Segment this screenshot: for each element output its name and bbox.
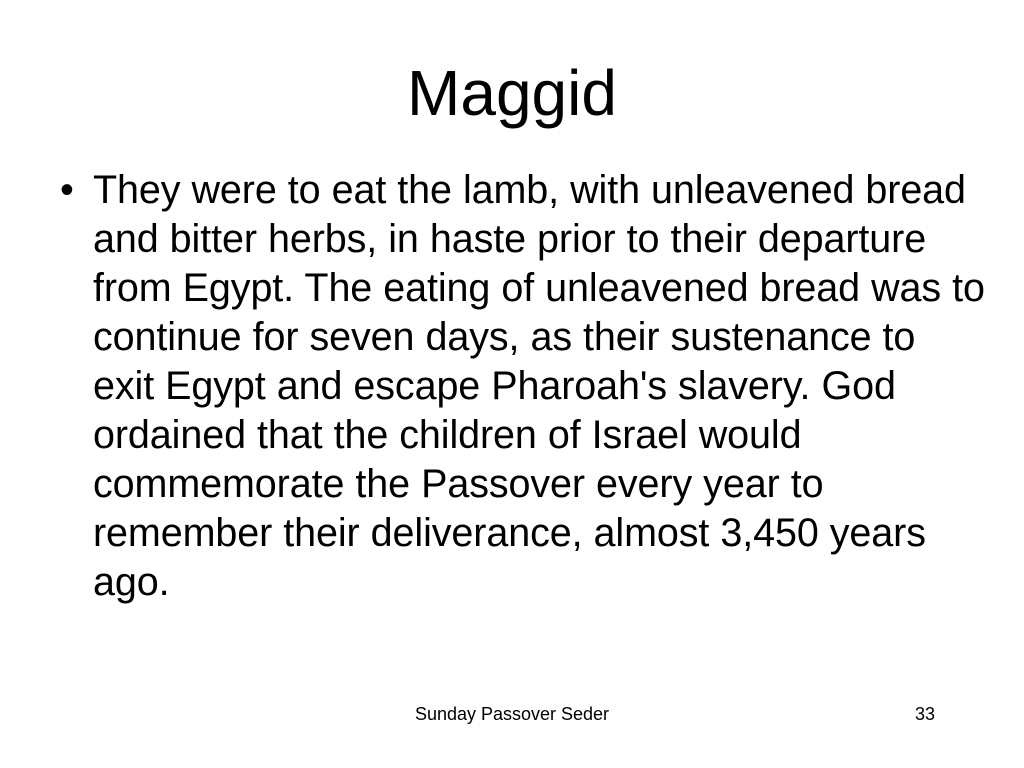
page-title: Maggid (0, 57, 1024, 129)
page-number: 33 (915, 703, 935, 725)
bullet-point-icon: • (60, 166, 88, 215)
footer-title: Sunday Passover Seder (0, 703, 1024, 725)
slide-body: • They were to eat the lamb, with unleav… (55, 166, 985, 607)
list-item: • They were to eat the lamb, with unleav… (55, 166, 985, 607)
slide-footer: Sunday Passover Seder 33 (0, 703, 1024, 733)
presentation-slide: Maggid • They were to eat the lamb, with… (0, 0, 1024, 768)
list-item-text: They were to eat the lamb, with unleaven… (93, 166, 985, 607)
